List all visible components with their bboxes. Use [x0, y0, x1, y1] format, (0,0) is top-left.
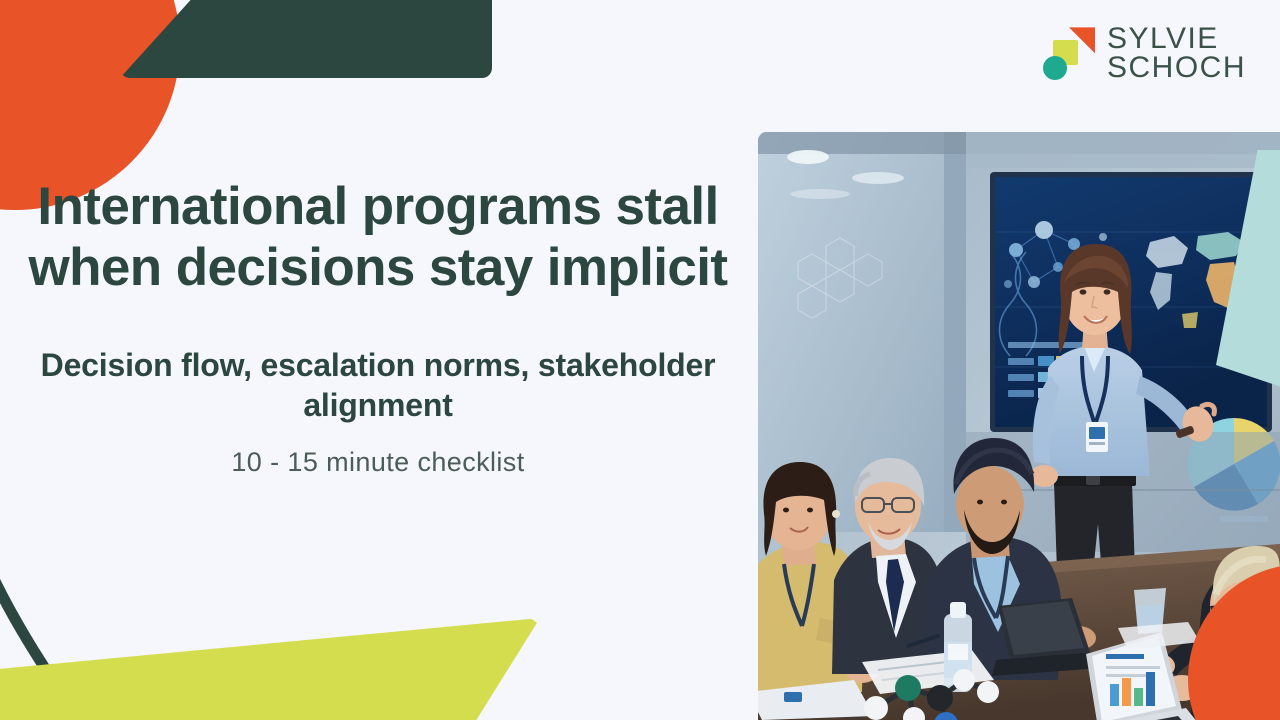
- page-title: International programs stall when decisi…: [0, 176, 756, 299]
- lime-band-bottom-left-decoration: [0, 618, 540, 720]
- green-line-bottom-left-decoration: [0, 556, 160, 720]
- logo-wordmark: SYLVIE SCHOCH: [1107, 24, 1246, 83]
- brand-logo[interactable]: SYLVIE SCHOCH: [1043, 24, 1246, 83]
- logo-mark: [1043, 25, 1095, 81]
- green-trapezoid-top-left-decoration: [120, 0, 492, 78]
- logo-line-2: SCHOCH: [1107, 53, 1246, 82]
- presentation-slide: SYLVIE SCHOCH International programs sta…: [0, 0, 1280, 720]
- meeting-photo: [758, 132, 1280, 720]
- slide-text-block: International programs stall when decisi…: [0, 176, 756, 478]
- slide-subtitle: Decision flow, escalation norms, stakeho…: [0, 345, 756, 425]
- circle-icon: [1043, 56, 1067, 80]
- logo-line-1: SYLVIE: [1107, 24, 1246, 53]
- slide-tagline: 10 - 15 minute checklist: [0, 447, 756, 478]
